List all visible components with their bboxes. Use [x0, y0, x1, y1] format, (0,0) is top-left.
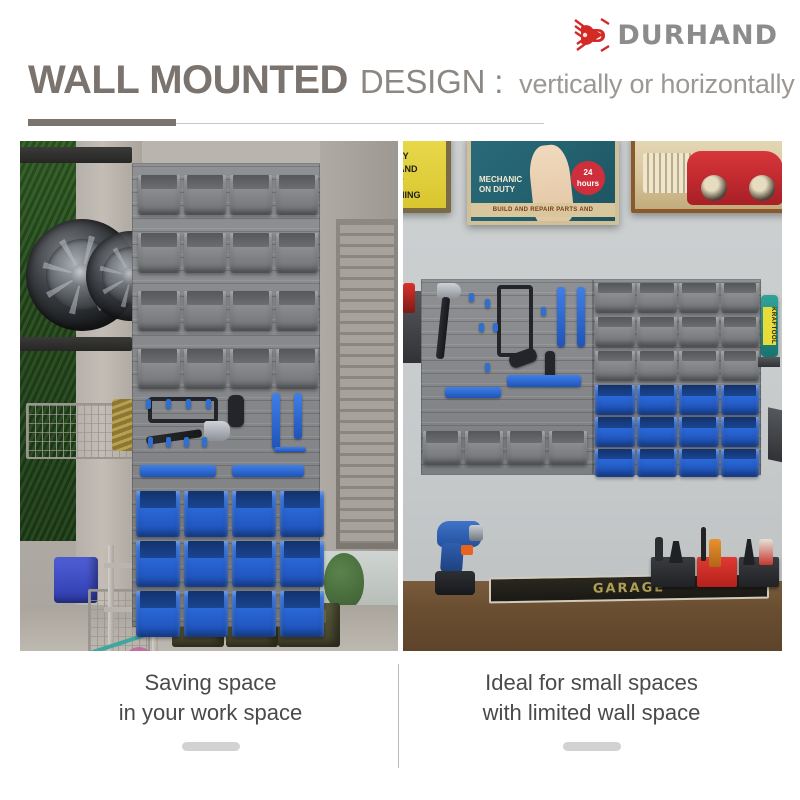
peg-hook: [186, 399, 191, 409]
title-light: vertically or horizontally: [519, 69, 794, 100]
bin-blue: [721, 385, 759, 415]
bin-blue: [595, 385, 635, 415]
drill-battery: [435, 571, 475, 595]
caption-right: Ideal for small spaces with limited wall…: [401, 662, 782, 770]
bin-blue: [184, 541, 228, 587]
bin-gray: [138, 233, 180, 273]
peg-hook: [485, 363, 490, 372]
page-title: WALL MOUNTED DESIGN : vertically or hori…: [28, 58, 795, 103]
shelf-mid: [20, 337, 132, 351]
product-marketing-page: D DURHAND WALL MOUNTED DESIGN : vertical…: [0, 0, 800, 800]
title-mid: DESIGN :: [360, 63, 503, 101]
header-accent-bar: [28, 119, 176, 126]
peg-hook: [166, 437, 171, 447]
tree: [324, 553, 364, 609]
brand-name: DURHAND: [617, 20, 778, 51]
peg-hook: [469, 293, 474, 302]
caption-right-line1: Ideal for small spaces: [485, 668, 698, 698]
blue-rail-2: [294, 393, 302, 439]
bin-gray: [549, 431, 587, 465]
blue-tool-holder-2: [445, 387, 501, 398]
bin-blue: [232, 541, 276, 587]
blue-tool-holder-2: [232, 465, 304, 477]
bin-gray: [230, 175, 272, 215]
poster-text: LYANDTNING: [403, 150, 421, 202]
bin-gray: [276, 291, 318, 331]
hammer-head: [204, 421, 230, 441]
pegboard-vertical: [132, 163, 320, 627]
bin-blue: [136, 491, 180, 537]
kraftool-label: KRAFTOOL: [763, 307, 776, 345]
drill-accent: [461, 545, 473, 555]
pegboard-horizontal-bins: [593, 279, 761, 475]
peg-hook: [485, 299, 490, 308]
car-wheel: [749, 175, 775, 201]
bin-gray: [595, 283, 635, 313]
bin-blue: [232, 591, 276, 637]
peg-hook: [493, 323, 498, 332]
drill-chuck: [469, 525, 483, 541]
peg-hook: [202, 437, 207, 447]
bin-gray: [276, 175, 318, 215]
photo-gallery: LYANDTNING MECHANICON DUTY 24hours BUILD…: [20, 141, 782, 651]
bin-blue: [232, 491, 276, 537]
peg-hook: [184, 437, 189, 447]
bin-blue: [280, 541, 324, 587]
bin-gray: [637, 351, 677, 381]
hacksaw-tool: [497, 285, 533, 357]
poster-vintage-car: [631, 141, 782, 213]
poster-footer-strip: BUILD AND REPAIR PARTS AND ACCESSORIES: [471, 203, 615, 217]
caption-right-accent-pill: [563, 742, 621, 751]
bin-gray: [721, 351, 759, 381]
bin-blue: [721, 417, 759, 447]
lock-fix-box: [759, 539, 773, 565]
peg-hook: [541, 307, 546, 316]
bin-blue: [721, 449, 759, 477]
blue-rail-2: [577, 287, 585, 347]
bin-gray: [637, 317, 677, 347]
bin-gray: [507, 431, 545, 465]
shelf-bracket-right: [758, 357, 780, 367]
cordless-drill: [431, 517, 485, 595]
bin-gray: [679, 317, 719, 347]
bin-gray: [230, 349, 272, 389]
bin-gray: [276, 233, 318, 273]
badge-24-hours: 24hours: [571, 161, 605, 195]
bin-blue: [280, 491, 324, 537]
peg-hook: [166, 399, 171, 409]
bin-blue: [136, 541, 180, 587]
poster-footer-text: BUILD AND REPAIR PARTS AND ACCESSORIES: [471, 203, 615, 225]
bin-gray: [595, 317, 635, 347]
bin-blue: [595, 417, 635, 447]
bin-gray: [423, 431, 461, 465]
peg-hook: [479, 323, 484, 332]
bottle-1: [655, 537, 663, 561]
bin-blue: [184, 591, 228, 637]
bin-blue: [679, 449, 719, 477]
wrench-logo-icon: D: [571, 15, 615, 55]
peg-hook: [148, 437, 153, 447]
caption-left: Saving space in your work space: [20, 662, 401, 770]
bin-gray: [138, 349, 180, 389]
shelf-top: [20, 147, 132, 163]
bin-gray: [721, 317, 759, 347]
bin-blue: [679, 417, 719, 447]
bin-blue: [637, 385, 677, 415]
caption-right-line2: with limited wall space: [483, 698, 701, 728]
bin-blue: [679, 385, 719, 415]
title-strong: WALL MOUNTED: [28, 58, 348, 103]
bin-gray: [230, 233, 272, 273]
bin-gray: [184, 291, 226, 331]
bin-blue: [184, 491, 228, 537]
bin-gray: [138, 291, 180, 331]
hammer-head: [437, 283, 461, 299]
photo-horizontal-mount: LYANDTNING MECHANICON DUTY 24hours BUILD…: [403, 141, 782, 651]
blue-tool-holder-1: [507, 375, 581, 387]
peg-hook: [206, 399, 211, 409]
bin-gray: [138, 175, 180, 215]
bin-gray: [184, 349, 226, 389]
poster-headline: MECHANICON DUTY: [479, 175, 522, 195]
caption-left-accent-pill: [182, 742, 240, 751]
blue-tool-holder-1: [140, 465, 216, 477]
bin-gray: [637, 283, 677, 313]
wall-rail-right: [768, 407, 782, 462]
bin-gray: [465, 431, 503, 465]
photo-vertical-mount: [20, 141, 398, 651]
bin-blue: [136, 591, 180, 637]
bin-blue: [637, 449, 677, 477]
blue-rail-1: [272, 393, 280, 449]
bin-gray: [184, 233, 226, 273]
louvered-door: [340, 225, 394, 543]
bin-gray: [184, 175, 226, 215]
bin-blue: [637, 417, 677, 447]
car-wheel: [701, 175, 727, 201]
bin-gray: [679, 283, 719, 313]
bin-gray: [276, 349, 318, 389]
blue-rail-3: [274, 447, 306, 452]
bin-gray: [230, 291, 272, 331]
bin-blue: [280, 591, 324, 637]
poster-yellow-warning-sign: LYANDTNING: [403, 141, 451, 213]
blue-rail-1: [557, 287, 565, 347]
roller-tool: [228, 395, 244, 427]
caption-left-line2: in your work space: [119, 698, 302, 728]
pegboard-horizontal-tools: [421, 279, 593, 475]
bin-gray: [595, 351, 635, 381]
caulk-gun-nozzle: [701, 527, 706, 561]
peg-hook: [146, 399, 151, 409]
bin-gray: [679, 351, 719, 381]
workshop-machine: [30, 641, 180, 651]
kraftool-spray-can: KRAFTOOL: [761, 295, 778, 357]
svg-text:D: D: [591, 26, 606, 47]
caption-row: Saving space in your work space Ideal fo…: [20, 662, 782, 770]
sealant-tube: [709, 539, 721, 567]
caption-divider: [398, 664, 399, 768]
bin-blue: [595, 449, 635, 477]
poster-mechanic-on-duty: MECHANICON DUTY 24hours BUILD AND REPAIR…: [467, 141, 619, 225]
bin-gray: [721, 283, 759, 313]
caption-left-line1: Saving space: [144, 668, 276, 698]
brand-logo: D DURHAND: [571, 14, 778, 56]
spray-can-left: [403, 283, 415, 313]
